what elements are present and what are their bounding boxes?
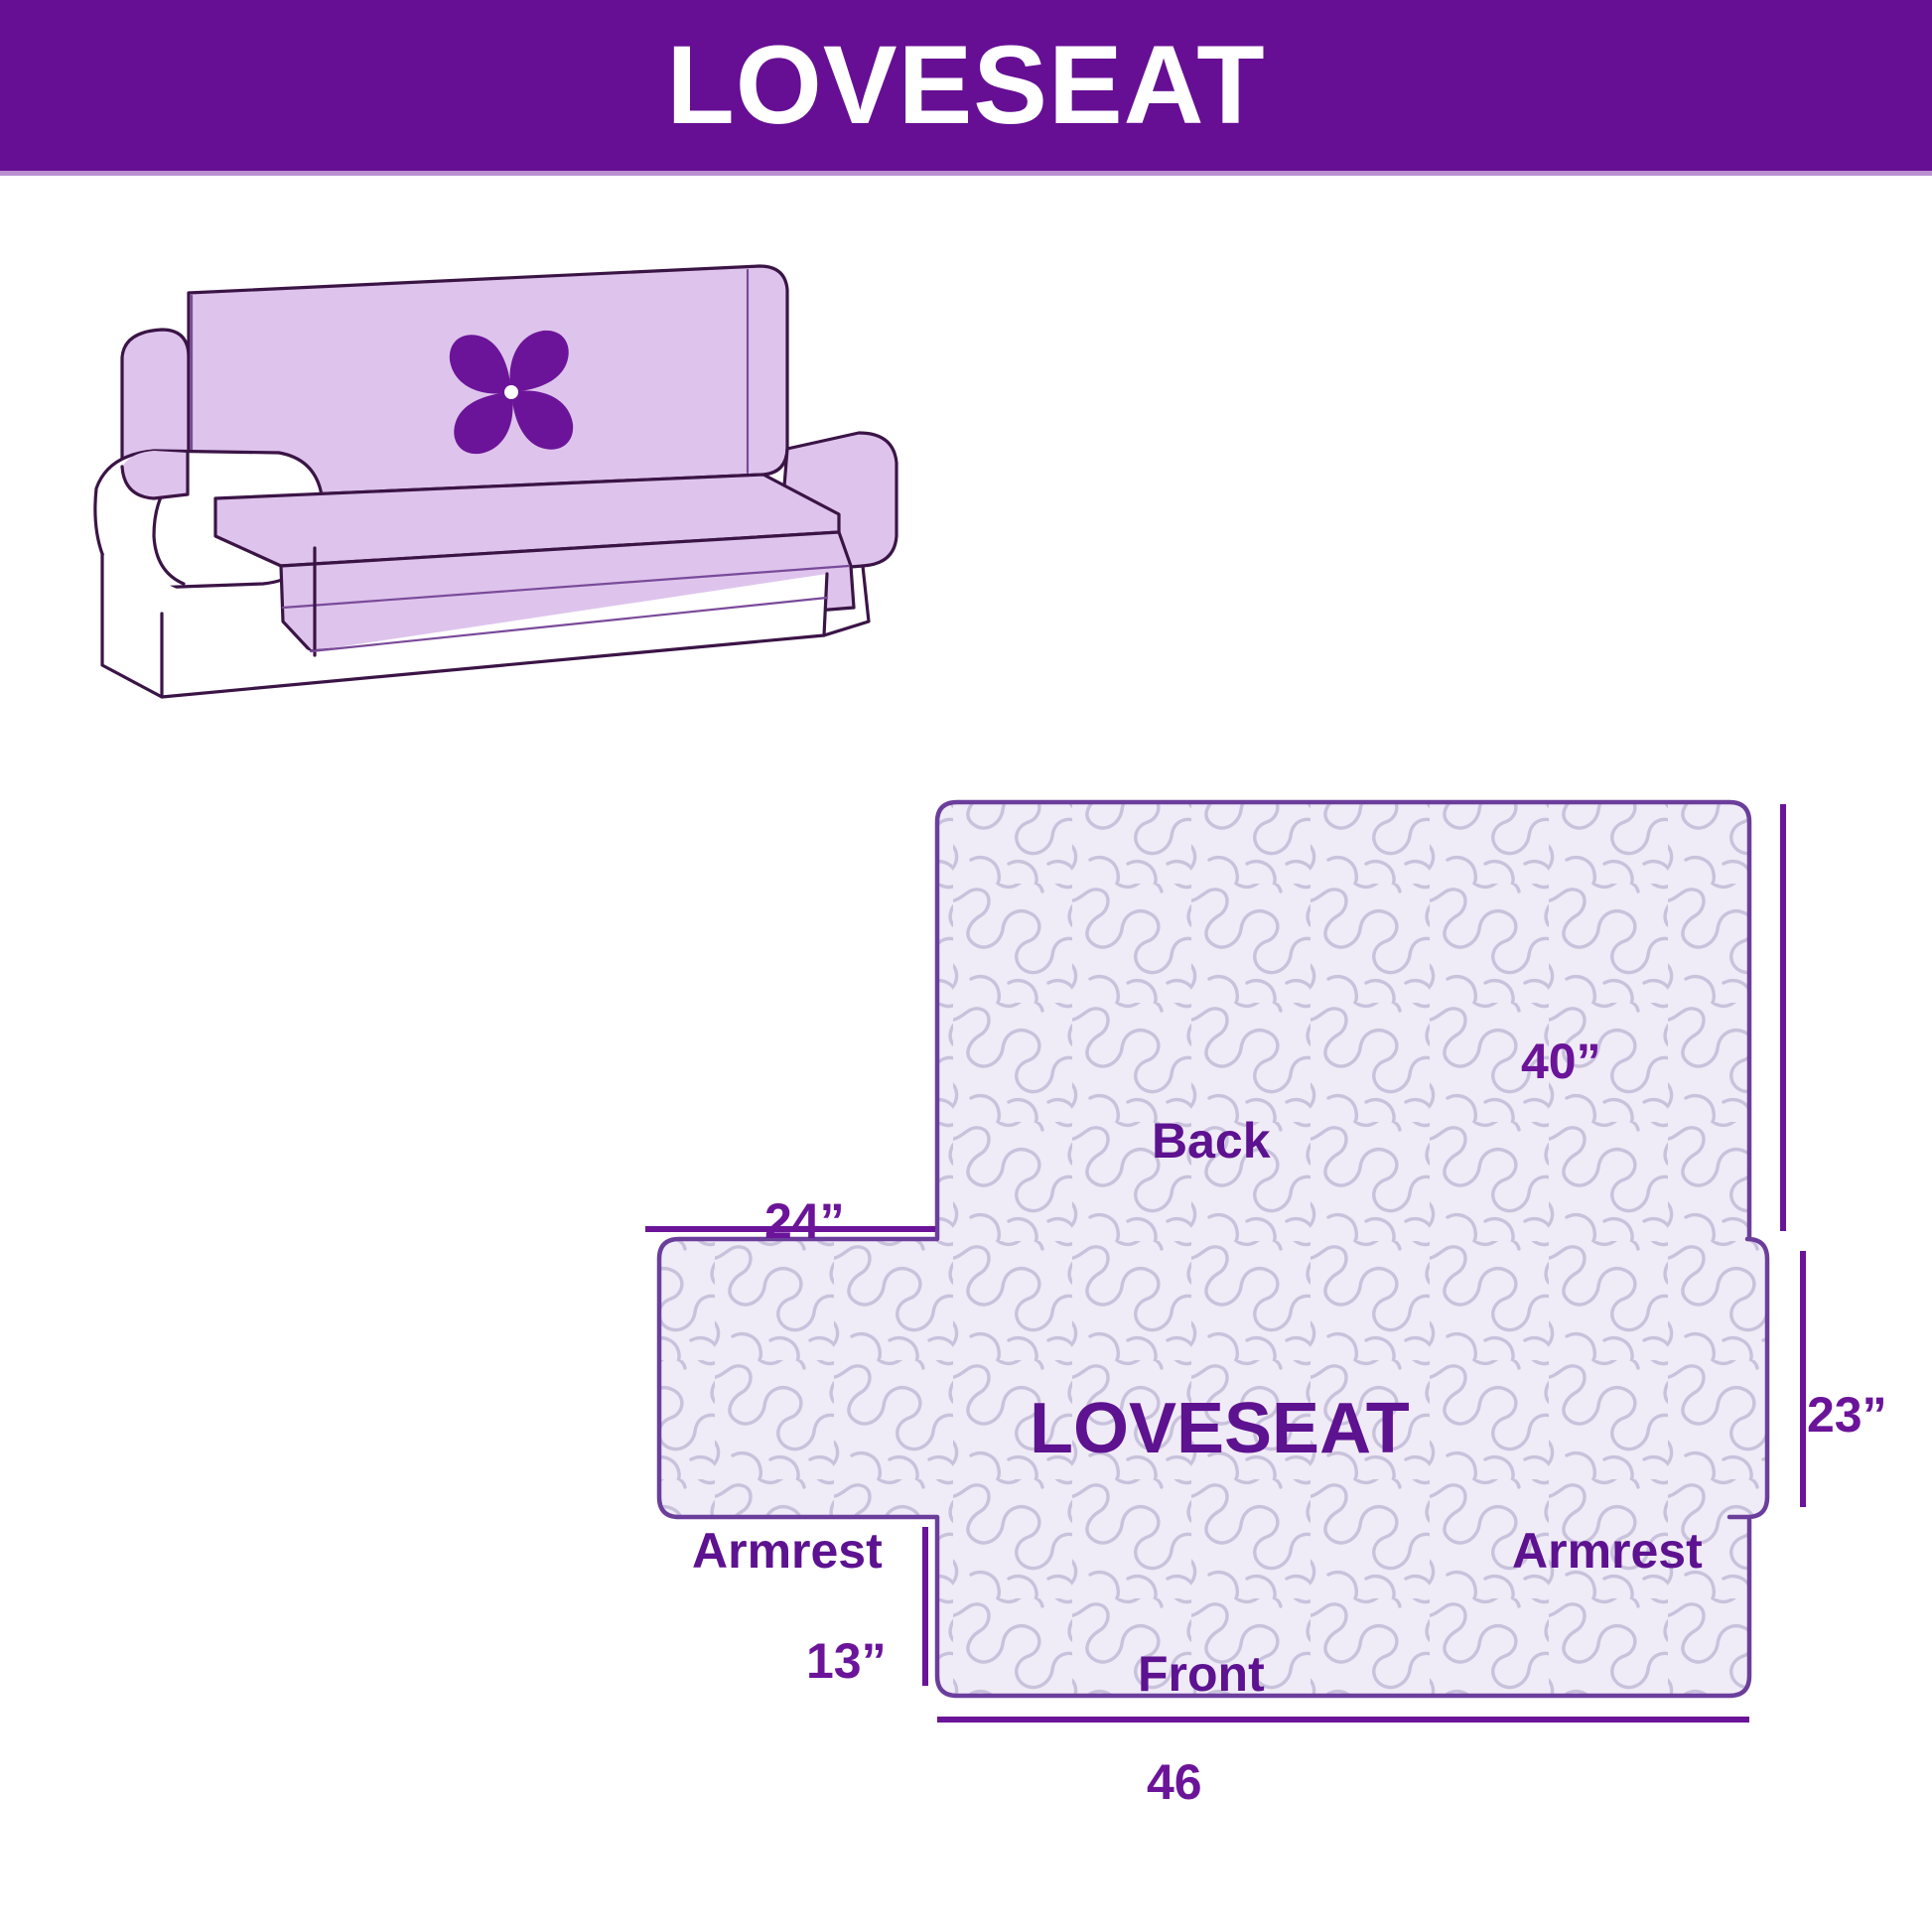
- panel-label-back: Back: [1152, 1116, 1271, 1166]
- panel-label-armrest-left: Armrest: [692, 1526, 883, 1576]
- dimension-armrest-height: 23”: [1807, 1390, 1887, 1440]
- dimension-front-width: 46: [1147, 1757, 1202, 1807]
- pattern-center-label: LOVESEAT: [1030, 1393, 1410, 1464]
- dimension-front-height: 13”: [806, 1636, 887, 1686]
- product-dimension-infographic: LOVESEAT .so-fill { fill:#DEC4EC; } .so-…: [0, 0, 1932, 1932]
- loveseat-line-drawing: .so-fill { fill:#DEC4EC; } .so-white { f…: [84, 238, 908, 705]
- panel-label-front: Front: [1138, 1649, 1265, 1699]
- panel-label-armrest-right: Armrest: [1512, 1526, 1703, 1576]
- dimension-back-width: 24”: [764, 1196, 845, 1246]
- page-title: LOVESEAT: [666, 30, 1265, 141]
- dimension-back-height: 40”: [1521, 1036, 1601, 1086]
- header-banner: LOVESEAT: [0, 0, 1932, 171]
- header-underline-divider: [0, 171, 1932, 176]
